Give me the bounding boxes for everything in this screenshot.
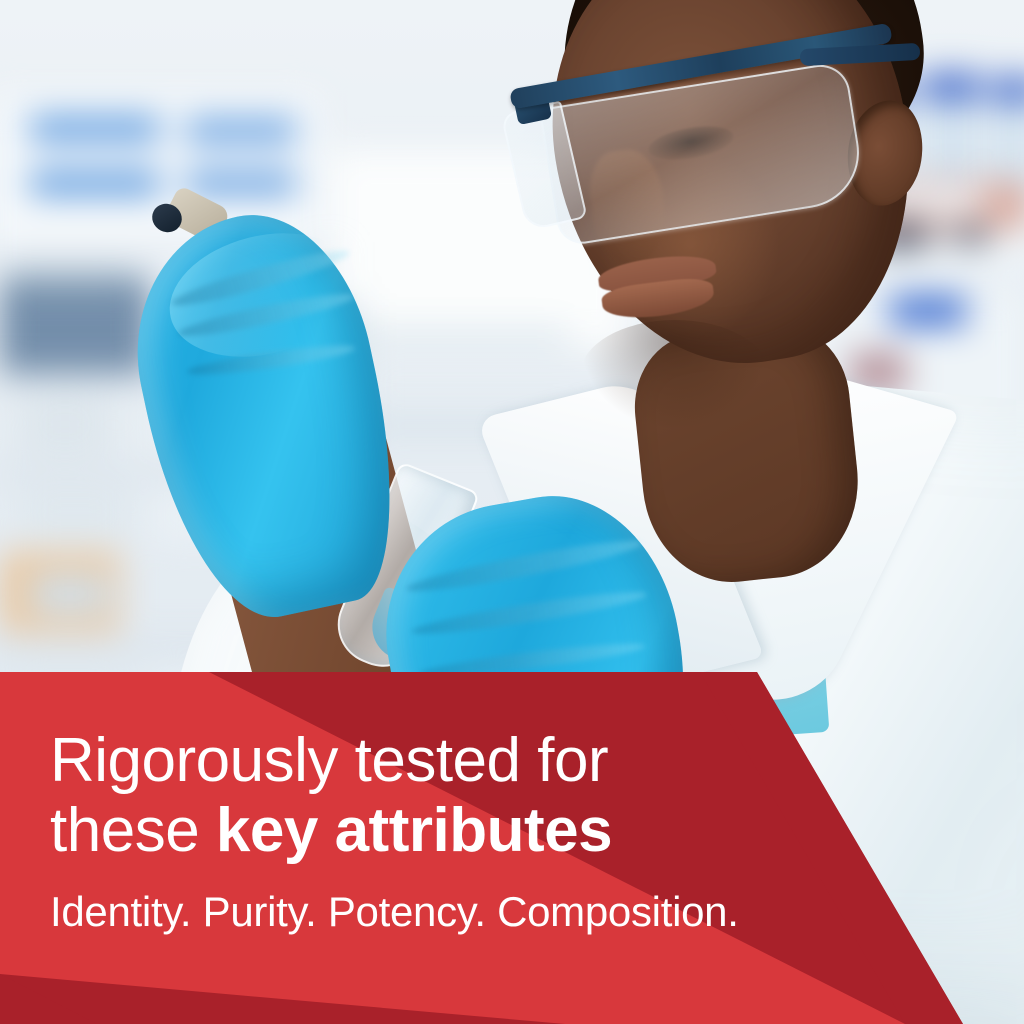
banner-text-block: Rigorously tested for these key attribut… [50, 726, 750, 936]
subheadline-attributes: Identity. Purity. Potency. Composition. [50, 888, 750, 936]
promo-image: Rigorously tested for these key attribut… [0, 0, 1024, 1024]
chin-shadow [580, 320, 770, 430]
headline-line-2-bold: key attributes [216, 796, 612, 865]
headline-line-1: Rigorously tested for [50, 726, 750, 796]
headline-line-2-light: these [50, 796, 216, 865]
headline-line-2: these key attributes [50, 796, 750, 866]
